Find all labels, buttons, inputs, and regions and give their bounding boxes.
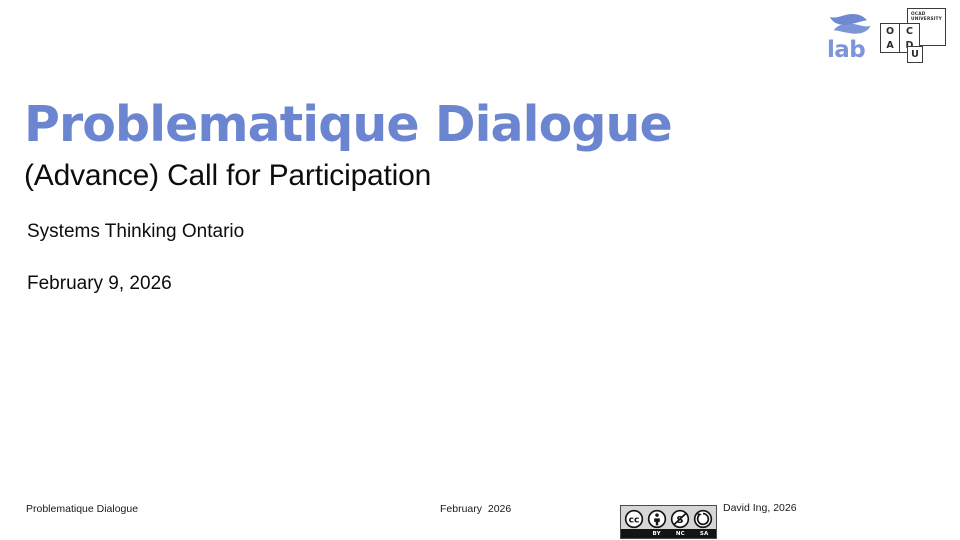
cc-term-sa: SA (692, 531, 716, 537)
footer-deck-title: Problematique Dialogue (26, 502, 138, 516)
cc-badge-icons: cc S (621, 506, 716, 531)
cc-badge-terms: ·· BY NC SA (621, 529, 716, 538)
svg-text:cc: cc (629, 514, 640, 525)
by-person-icon (647, 509, 667, 529)
nc-crossed-dollar-icon: S (670, 509, 690, 529)
title-block: Problematique Dialogue (Advance) Call fo… (24, 96, 724, 194)
meta-block: Systems Thinking Ontario February 9, 202… (27, 219, 647, 297)
page-title: Problematique Dialogue (24, 96, 724, 154)
footer-author: David Ing, 2026 (723, 501, 797, 515)
logo-bar: lab OCAD UNIVERSITY O C A D U (826, 8, 946, 64)
slab-wordmark: lab (827, 39, 865, 62)
cc-term-spacer: ·· (621, 531, 645, 537)
cc-circle-icon: cc (624, 509, 644, 529)
footer-date: February 2026 (440, 502, 511, 516)
cc-term-by: BY (645, 531, 669, 537)
event-date: February 9, 2026 (27, 271, 647, 297)
ocad-letter-u: U (907, 46, 923, 63)
event-name: Systems Thinking Ontario (27, 219, 647, 245)
ocad-letter-o: O (881, 24, 900, 38)
ocad-university-logo: OCAD UNIVERSITY O C A D U (880, 8, 946, 64)
slab-logo: lab (826, 8, 872, 64)
cc-by-nc-sa-badge[interactable]: cc S ·· BY N (620, 505, 717, 539)
sa-sharealike-icon (693, 509, 713, 529)
page-subtitle: (Advance) Call for Participation (24, 158, 724, 194)
ocad-letter-c: C (900, 24, 919, 38)
cc-term-nc: NC (669, 531, 693, 537)
slide-footer: Problematique Dialogue February 2026 Dav… (0, 492, 960, 540)
ocad-letter-a: A (881, 38, 900, 52)
slide-canvas: lab OCAD UNIVERSITY O C A D U Problemati… (0, 0, 960, 540)
ocad-university-text: OCAD UNIVERSITY (911, 12, 942, 22)
